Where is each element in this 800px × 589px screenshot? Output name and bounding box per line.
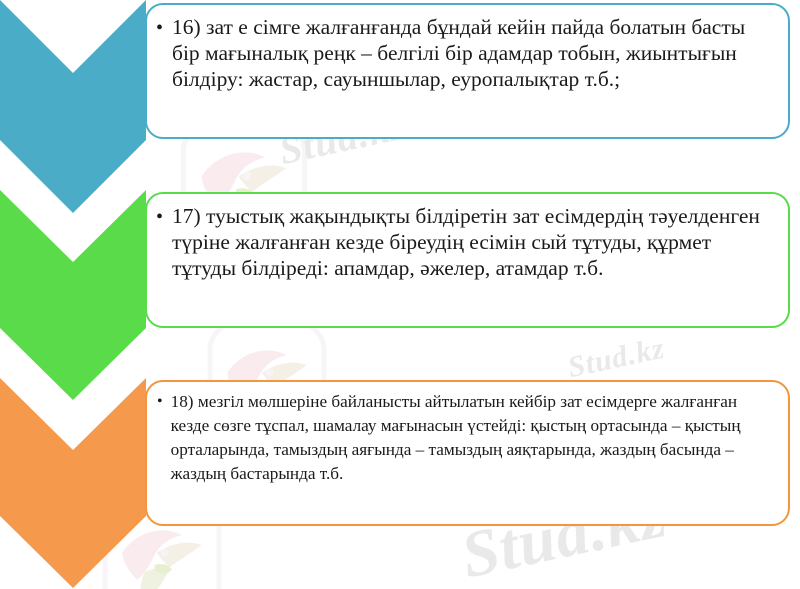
bullet-point-icon: • bbox=[156, 14, 163, 38]
chevron-arrow-teal bbox=[0, 0, 150, 213]
chevron-arrow-orange bbox=[0, 378, 150, 588]
list-item-text: 18) мезгіл мөлшеріне байланысты айтылаты… bbox=[171, 390, 774, 486]
slide-canvas: Stud.kz Stud.kz Stud.kz Stud.kz Stud.kz … bbox=[0, 0, 800, 589]
list-item-content: • 16) зат е сімге жалғанғанда бұндай кей… bbox=[147, 5, 788, 137]
list-item-text: 17) туыстық жақындықты білдіретін зат ес… bbox=[172, 203, 774, 281]
bullet-point-icon: • bbox=[157, 390, 163, 410]
list-item-text: 16) зат е сімге жалғанғанда бұндай кейін… bbox=[172, 14, 774, 92]
list-item-content: • 17) туыстық жақындықты білдіретін зат … bbox=[147, 194, 788, 326]
bullet-point-icon: • bbox=[156, 203, 163, 227]
watermark-text: Stud.kz bbox=[565, 332, 668, 386]
list-item: • 16) зат е сімге жалғанғанда бұндай кей… bbox=[145, 3, 790, 139]
list-item-content: • 18) мезгіл мөлшеріне байланысты айтыла… bbox=[147, 382, 788, 524]
list-item: • 17) туыстық жақындықты білдіретін зат … bbox=[145, 192, 790, 328]
list-item: • 18) мезгіл мөлшеріне байланысты айтыла… bbox=[145, 380, 790, 526]
chevron-arrow-green bbox=[0, 190, 150, 400]
